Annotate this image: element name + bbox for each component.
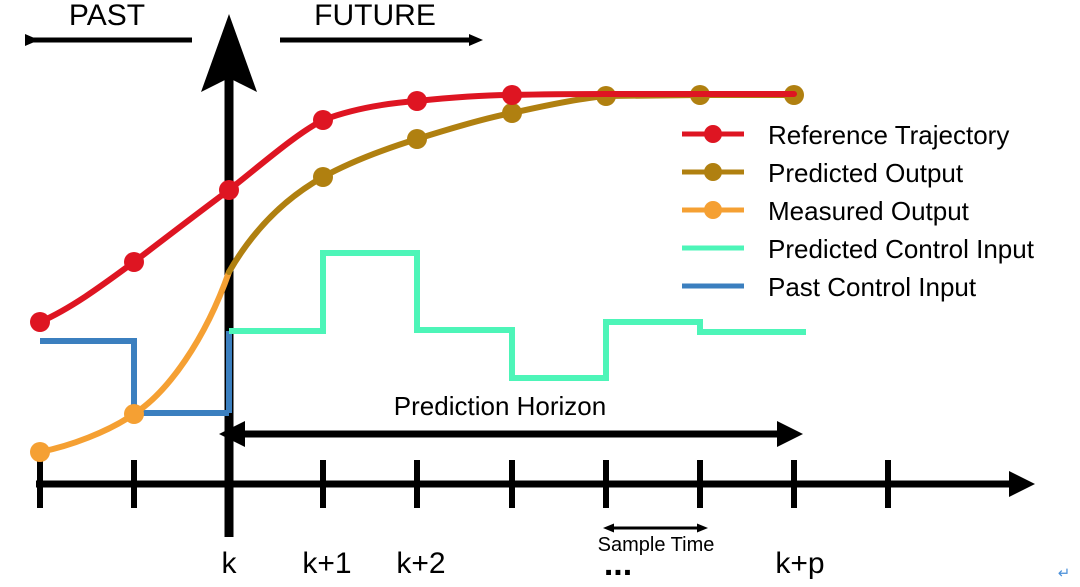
legend-swatch-marker (704, 125, 722, 143)
measured-output-point (124, 404, 144, 424)
mpc-diagram: PAST FUTURE k k (0, 0, 1080, 587)
mpc-diagram-canvas: PAST FUTURE k k (0, 0, 1080, 587)
legend-label: Reference Trajectory (768, 120, 1009, 150)
series-predicted-control-input (229, 253, 806, 378)
legend-swatch-marker (704, 201, 722, 219)
predicted-output-point (502, 103, 522, 123)
series-measured-output (30, 272, 229, 462)
time-axis: k k+1 k+2 k+p ... (36, 460, 1010, 583)
past-control-input-line (40, 341, 229, 413)
predicted-output-point (407, 129, 427, 149)
era-indicators: PAST FUTURE (26, 0, 470, 40)
legend-item-predicted-control-input[interactable]: Predicted Control Input (682, 234, 1035, 264)
axis-tick-labels: k k+1 k+2 k+p (222, 547, 825, 580)
legend-item-reference-trajectory[interactable]: Reference Trajectory (682, 120, 1009, 150)
reference-trajectory-point (124, 252, 144, 272)
measured-output-point (30, 442, 50, 462)
sample-time-label: Sample Time (598, 534, 715, 556)
series-reference-trajectory (30, 85, 794, 332)
sample-time-annotation: Sample Time (598, 528, 715, 556)
prediction-horizon-label: Prediction Horizon (394, 391, 606, 421)
reference-trajectory-point (407, 91, 427, 111)
reference-trajectory-point (313, 110, 333, 130)
legend-item-measured-output[interactable]: Measured Output (682, 196, 970, 226)
series-past-control-input (40, 331, 229, 413)
paragraph-return-mark: ↵ (1058, 565, 1071, 582)
axis-tick-label-k-plus-p: k+p (775, 547, 824, 580)
predicted-output-point (313, 167, 333, 187)
predicted-control-input-line (229, 253, 806, 378)
axis-tick-label-k: k (222, 547, 238, 580)
future-label: FUTURE (314, 0, 436, 32)
legend-item-past-control-input[interactable]: Past Control Input (682, 272, 977, 302)
legend-swatch-marker (704, 163, 722, 181)
past-label: PAST (69, 0, 145, 32)
axis-tick-label-k-plus-1: k+1 (302, 547, 351, 580)
legend: Reference Trajectory Predicted Output Me… (682, 120, 1035, 302)
legend-label: Measured Output (768, 196, 970, 226)
legend-label: Past Control Input (768, 272, 977, 302)
prediction-horizon-annotation: Prediction Horizon (244, 391, 778, 434)
axis-tick-label-k-plus-2: k+2 (396, 547, 445, 580)
reference-trajectory-point (30, 312, 50, 332)
reference-trajectory-point (219, 180, 239, 200)
reference-trajectory-point (502, 85, 522, 105)
legend-label: Predicted Output (768, 158, 964, 188)
legend-label: Predicted Control Input (768, 234, 1035, 264)
legend-item-predicted-output[interactable]: Predicted Output (682, 158, 964, 188)
